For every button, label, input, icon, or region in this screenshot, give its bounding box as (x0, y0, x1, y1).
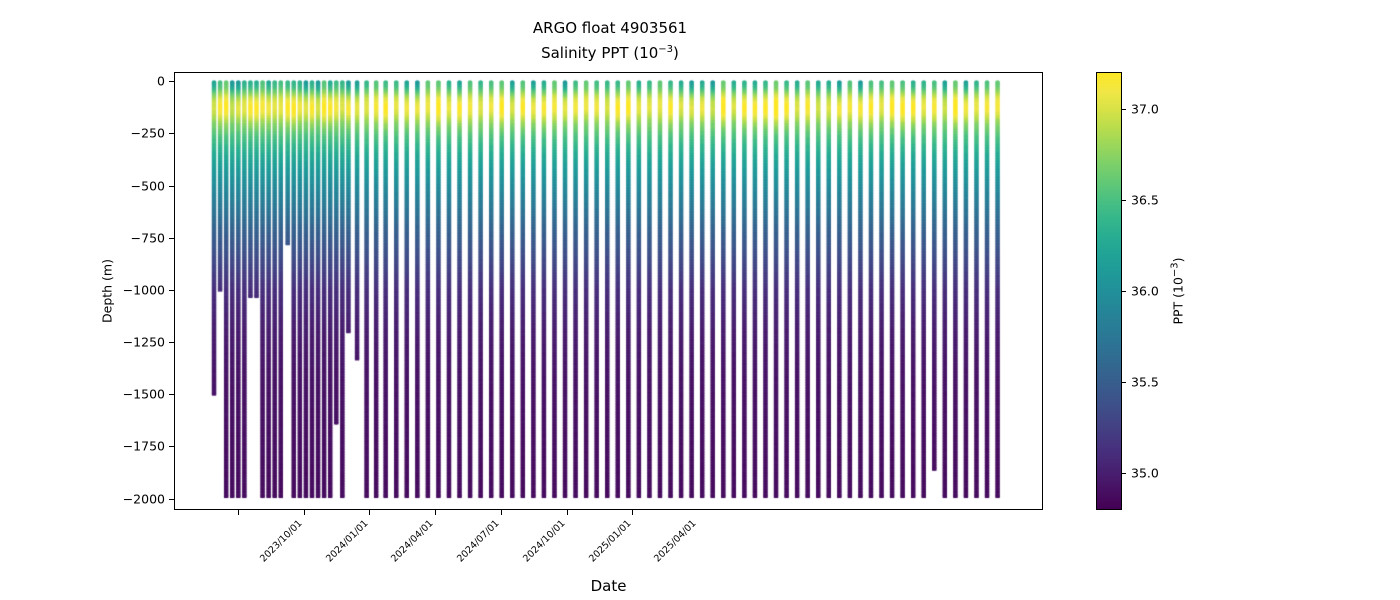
colorbar-tick-label: 37.0 (1131, 102, 1159, 117)
colorbar-tick-mark (1121, 200, 1126, 201)
y-tick-label: −1500 (123, 387, 165, 402)
colorbar-label-prefix: PPT (10 (1171, 277, 1186, 324)
y-tick-label: −250 (131, 126, 165, 141)
y-tick-mark (169, 290, 175, 291)
y-tick-mark (169, 342, 175, 343)
title-line-2-prefix: Salinity PPT (10 (541, 44, 658, 62)
x-tick-label: 2024/07/01 (455, 518, 502, 565)
x-tick-label: 2025/01/01 (587, 518, 634, 565)
colorbar-tick-label: 36.0 (1131, 284, 1159, 299)
colorbar-tick-mark (1121, 291, 1126, 292)
title-line-1: ARGO float 4903561 (0, 16, 1220, 41)
x-tick-mark (632, 509, 633, 515)
y-tick-label: −500 (131, 178, 165, 193)
title-line-2-suffix: ) (673, 44, 679, 62)
y-tick-label: −1250 (123, 335, 165, 350)
colorbar-tick-label: 35.0 (1131, 465, 1159, 480)
x-tick-mark (304, 509, 305, 515)
y-tick-label: 0 (157, 74, 165, 89)
y-tick-mark (169, 186, 175, 187)
y-tick-label: −1000 (123, 282, 165, 297)
y-tick-mark (169, 133, 175, 134)
y-tick-mark (169, 446, 175, 447)
colorbar: 35.035.536.036.537.0 (1096, 72, 1122, 510)
y-tick-label: −2000 (123, 491, 165, 506)
colorbar-tick-mark (1121, 382, 1126, 383)
x-tick-label: 2023/10/01 (258, 518, 305, 565)
x-tick-label: 2024/01/01 (324, 518, 371, 565)
y-tick-label: −1750 (123, 439, 165, 454)
y-axis-label: Depth (m) (100, 259, 115, 323)
x-tick-mark (369, 509, 370, 515)
x-tick-mark (238, 509, 239, 515)
colorbar-label-suffix: ) (1171, 257, 1186, 262)
title-line-2: Salinity PPT (10−3) (0, 41, 1220, 66)
y-tick-mark (169, 238, 175, 239)
figure-container: ARGO float 4903561 Salinity PPT (10−3) 0… (0, 0, 1400, 600)
y-tick-label: −750 (131, 230, 165, 245)
x-tick-mark (567, 509, 568, 515)
x-tick-label: 2024/10/01 (521, 518, 568, 565)
x-tick-label: 2025/04/01 (652, 518, 699, 565)
plot-axes: 0−250−500−750−1000−1250−1500−1750−2000 2… (174, 72, 1043, 510)
y-tick-mark (169, 394, 175, 395)
y-tick-mark (169, 499, 175, 500)
colorbar-tick-mark (1121, 109, 1126, 110)
colorbar-tick-label: 36.5 (1131, 193, 1159, 208)
colorbar-gradient (1097, 73, 1121, 509)
colorbar-label: PPT (10−3) (1171, 257, 1186, 324)
title-line-2-exponent: −3 (658, 44, 673, 55)
figure-title: ARGO float 4903561 Salinity PPT (10−3) (0, 16, 1220, 66)
salinity-depth-profile-plot (175, 73, 1042, 509)
x-tick-label: 2024/04/01 (389, 518, 436, 565)
colorbar-label-exponent: −3 (1169, 262, 1180, 277)
x-axis-label: Date (591, 577, 627, 595)
x-tick-mark (501, 509, 502, 515)
colorbar-tick-label: 35.5 (1131, 374, 1159, 389)
x-tick-mark (435, 509, 436, 515)
colorbar-tick-mark (1121, 473, 1126, 474)
y-tick-mark (169, 81, 175, 82)
